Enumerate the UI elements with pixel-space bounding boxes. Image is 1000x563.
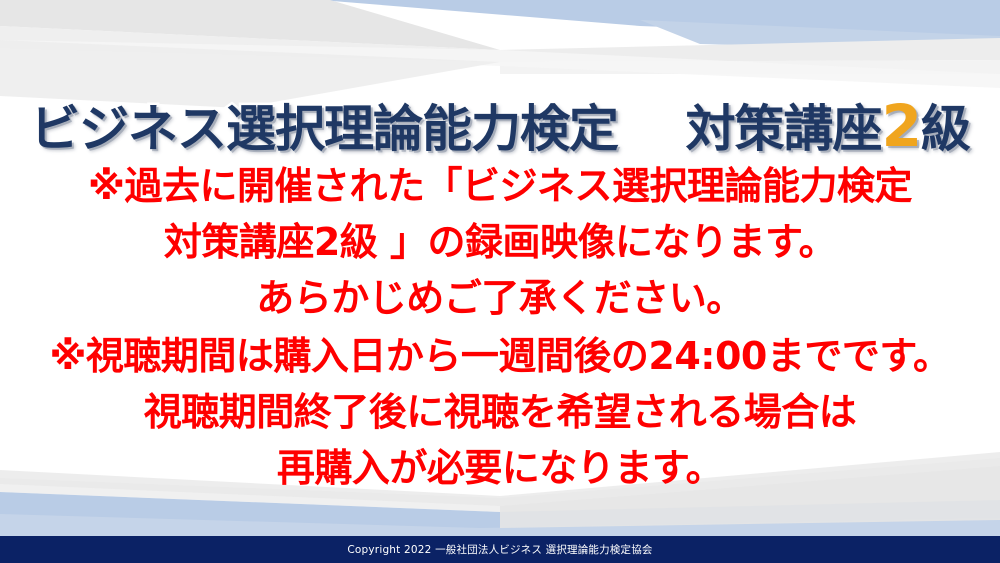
- title-grade-number: 2: [882, 92, 921, 160]
- top-blue-wedge: [320, 0, 1000, 40]
- notice-line: あらかじめご了承ください。: [0, 270, 1000, 326]
- top-gray-left-lower: [0, 26, 500, 62]
- title-spacer: [618, 100, 686, 158]
- top-blue-wedge-2: [640, 20, 1000, 52]
- title-grade-suffix: 級: [921, 100, 970, 158]
- notice-line: ※過去に開催された「ビジネス選択理論能力検定: [0, 158, 1000, 214]
- page-title: ビジネス選択理論能力検定 対策講座2級: [30, 96, 970, 157]
- footer-bar: Copyright 2022 一般社団法人ビジネス 選択理論能力検定協会: [0, 536, 1000, 563]
- slide-canvas: ビジネス選択理論能力検定 対策講座2級 ※過去に開催された「ビジネス選択理論能力…: [0, 0, 1000, 563]
- bottom-blue-band-soft: [0, 514, 1000, 536]
- top-gray-right: [500, 38, 1000, 62]
- notice-line: 視聴期間終了後に視聴を希望される場合は: [0, 384, 1000, 440]
- bottom-gray-band-right-2: [500, 500, 1000, 536]
- notice-line: ※視聴期間は購入日から一週間後の24:00までです。: [0, 328, 1000, 384]
- notice-line: 再購入が必要になります。: [0, 440, 1000, 496]
- copyright-text: Copyright 2022 一般社団法人ビジネス 選択理論能力検定協会: [347, 542, 652, 557]
- notice-block-viewing-period: ※視聴期間は購入日から一週間後の24:00までです。 視聴期間終了後に視聴を希望…: [0, 328, 1000, 496]
- notice-line: 対策講座2級 」の録画映像になります。: [0, 214, 1000, 270]
- notice-block-recording: ※過去に開催された「ビジネス選択理論能力検定 対策講座2級 」の録画映像になりま…: [0, 158, 1000, 326]
- title-course-text: 対策講座: [686, 100, 882, 158]
- top-gray-left: [0, 0, 500, 50]
- bottom-blue-band: [0, 492, 1000, 536]
- title-main-text: ビジネス選択理論能力検定: [30, 100, 618, 158]
